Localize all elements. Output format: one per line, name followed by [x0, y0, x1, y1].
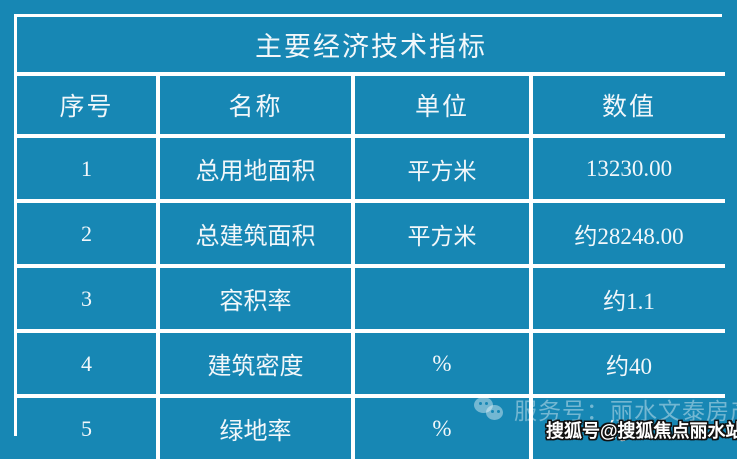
table-title-row: 主要经济技术指标 — [17, 17, 725, 76]
cell-name: 绿地率 — [160, 398, 355, 459]
cell-value: 约1.1 — [533, 268, 725, 333]
cell-unit: % — [355, 333, 533, 398]
cell-unit: 平方米 — [355, 203, 533, 268]
spec-table-container: 主要经济技术指标 序号 名称 单位 数值 1 总用地面积 平方米 13230.0… — [14, 14, 722, 436]
economic-indicators-table: 主要经济技术指标 序号 名称 单位 数值 1 总用地面积 平方米 13230.0… — [17, 17, 725, 459]
header-name: 名称 — [160, 76, 355, 138]
cell-name: 建筑密度 — [160, 333, 355, 398]
table-row: 1 总用地面积 平方米 13230.00 — [17, 138, 725, 203]
cell-name: 总建筑面积 — [160, 203, 355, 268]
table-row: 2 总建筑面积 平方米 约28248.00 — [17, 203, 725, 268]
header-index: 序号 — [17, 76, 160, 138]
cell-index: 5 — [17, 398, 160, 459]
table-row: 4 建筑密度 % 约40 — [17, 333, 725, 398]
table-row: 5 绿地率 % 约30 — [17, 398, 725, 459]
cell-value: 约40 — [533, 333, 725, 398]
cell-unit — [355, 268, 533, 333]
cell-index: 2 — [17, 203, 160, 268]
cell-value: 13230.00 — [533, 138, 725, 203]
header-unit: 单位 — [355, 76, 533, 138]
cell-index: 1 — [17, 138, 160, 203]
table-title: 主要经济技术指标 — [17, 17, 725, 76]
table-row: 3 容积率 约1.1 — [17, 268, 725, 333]
table-header-row: 序号 名称 单位 数值 — [17, 76, 725, 138]
header-value: 数值 — [533, 76, 725, 138]
cell-value: 约28248.00 — [533, 203, 725, 268]
cell-index: 3 — [17, 268, 160, 333]
cell-name: 总用地面积 — [160, 138, 355, 203]
cell-unit: 平方米 — [355, 138, 533, 203]
cell-value: 约30 — [533, 398, 725, 459]
cell-unit: % — [355, 398, 533, 459]
cell-index: 4 — [17, 333, 160, 398]
cell-name: 容积率 — [160, 268, 355, 333]
